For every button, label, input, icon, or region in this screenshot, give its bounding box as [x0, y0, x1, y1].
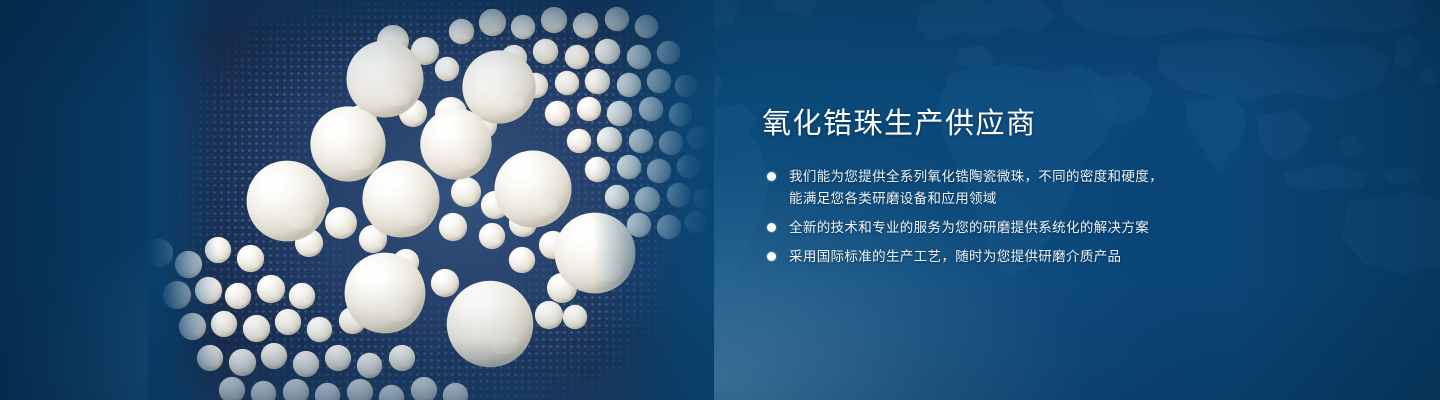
list-item: 采用国际标准的生产工艺，随时为您提供研磨介质产品	[762, 246, 1222, 268]
background-vignette	[0, 0, 1440, 400]
bullet-dot-icon	[767, 172, 776, 181]
page-title: 氧化锆珠生产供应商	[762, 104, 1222, 144]
list-item: 我们能为您提供全系列氧化锆陶瓷微珠，不同的密度和硬度， 能满足您各类研磨设备和应…	[762, 166, 1222, 210]
list-item: 全新的技术和专业的服务为您的研磨提供系统化的解决方案	[762, 217, 1222, 239]
bullet-dot-icon	[767, 223, 776, 232]
hero-banner: 氧化锆珠生产供应商 我们能为您提供全系列氧化锆陶瓷微珠，不同的密度和硬度， 能满…	[0, 0, 1440, 400]
list-item-line: 能满足您各类研磨设备和应用领域	[789, 188, 1222, 210]
bullet-dot-icon	[767, 252, 776, 261]
list-item-line: 采用国际标准的生产工艺，随时为您提供研磨介质产品	[789, 246, 1222, 268]
list-item-line: 全新的技术和专业的服务为您的研磨提供系统化的解决方案	[789, 217, 1222, 239]
banner-copy: 氧化锆珠生产供应商 我们能为您提供全系列氧化锆陶瓷微珠，不同的密度和硬度， 能满…	[762, 104, 1222, 268]
list-item-line: 我们能为您提供全系列氧化锆陶瓷微珠，不同的密度和硬度，	[789, 166, 1222, 188]
feature-list: 我们能为您提供全系列氧化锆陶瓷微珠，不同的密度和硬度， 能满足您各类研磨设备和应…	[762, 166, 1222, 268]
